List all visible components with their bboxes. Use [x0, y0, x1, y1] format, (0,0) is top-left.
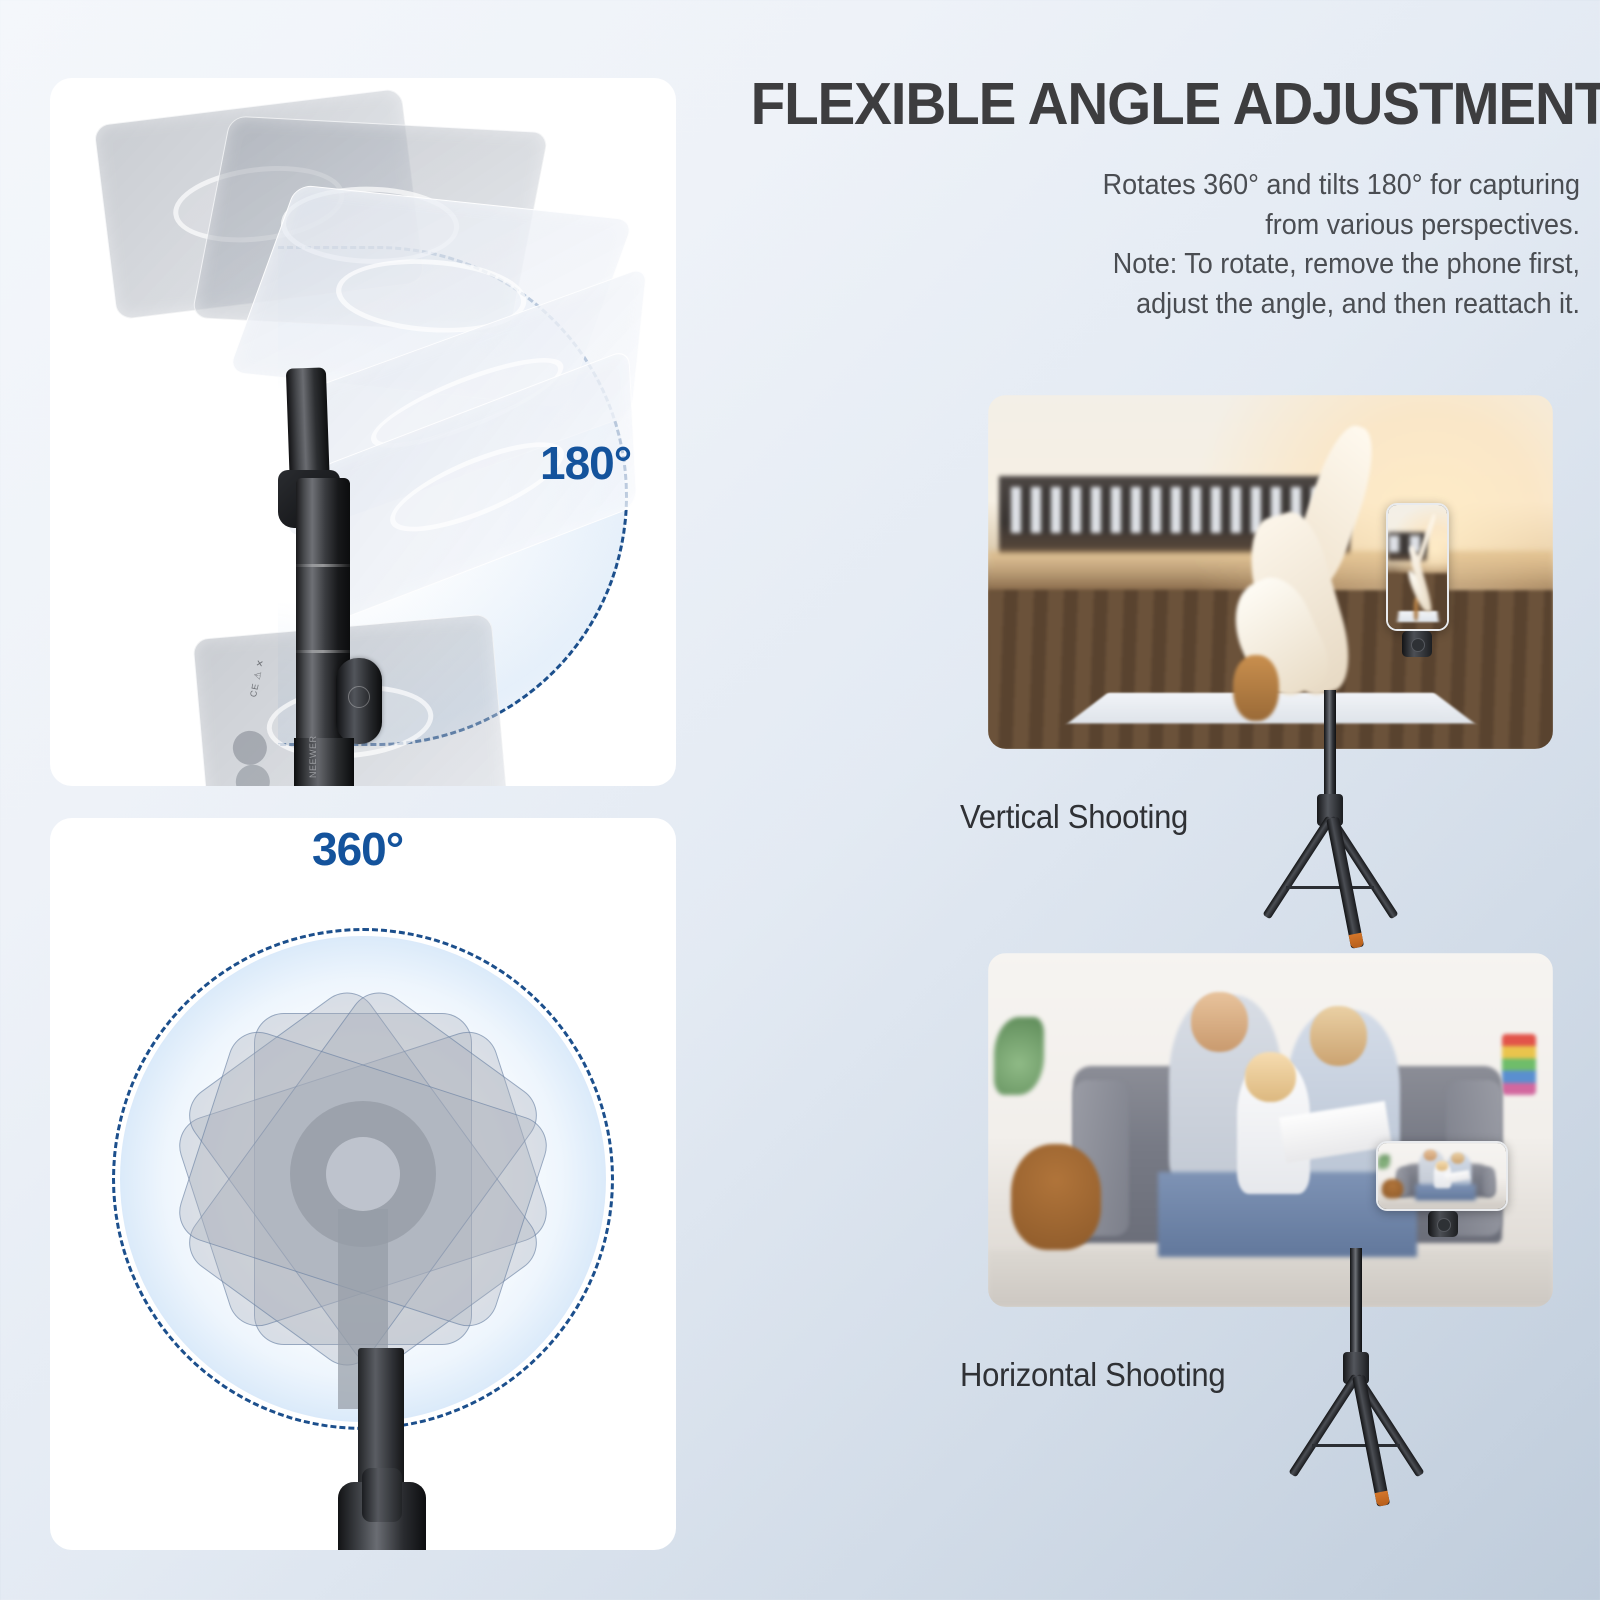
tripod-brace [1312, 1444, 1400, 1447]
mounted-phone-portrait [1386, 503, 1449, 631]
caption-vertical-shooting: Vertical Shooting [960, 798, 1188, 836]
tripod-leg-left [1262, 816, 1334, 920]
tilt-illustration: CE ⚠ ✕ NEEWER 180° [50, 78, 676, 786]
phone-preview-screen [1388, 505, 1447, 629]
rotate-illustration [50, 864, 676, 1550]
page-subcopy: Rotates 360° and tilts 180° for capturin… [929, 166, 1580, 325]
tripod-center-pole [1324, 690, 1336, 800]
brand-marking: NEEWER [308, 735, 318, 778]
child-head [1245, 1052, 1296, 1102]
caption-horizontal-shooting: Horizontal Shooting [960, 1356, 1225, 1394]
tilt-panel: CE ⚠ ✕ NEEWER 180° [50, 78, 676, 786]
pole-lower-section [294, 738, 354, 786]
magsafe-ring-icon [389, 424, 566, 550]
teddy-bear [1011, 1144, 1101, 1250]
rotation-hub [290, 1101, 436, 1247]
subcopy-line-4: adjust the angle, and then reattach it. [929, 285, 1580, 325]
horizontal-shooting-photo [988, 953, 1553, 1307]
subcopy-line-3: Note: To rotate, remove the phone first, [929, 245, 1580, 285]
vertical-shooting-photo [988, 395, 1553, 749]
subcopy-line-1: Rotates 360° and tilts 180° for capturin… [929, 166, 1580, 206]
stacking-toy [1502, 1034, 1536, 1094]
tilt-degree-label: 180° [540, 436, 631, 490]
tilt-knob [336, 658, 382, 744]
camera-lens-icon [231, 729, 268, 766]
rotate-panel: 360° [50, 818, 676, 1550]
hair [1233, 655, 1279, 720]
tripod-center-pole [1350, 1248, 1362, 1358]
mother-head [1310, 1006, 1367, 1066]
phone-mount-head [1402, 631, 1432, 657]
tripod-leg-left [1288, 1374, 1360, 1478]
floor [988, 1250, 1553, 1307]
phone-mount-head [1428, 1211, 1458, 1237]
rotating-mount-head [338, 1482, 426, 1550]
mounted-phone-landscape [1376, 1141, 1508, 1211]
subcopy-line-2: from various perspectives. [929, 206, 1580, 246]
phone-preview-screen [1378, 1143, 1506, 1209]
tripod-brace [1286, 886, 1374, 889]
rooftop-yoga-scene [988, 395, 1553, 749]
family-living-room-scene [988, 953, 1553, 1307]
houseplant [994, 1017, 1045, 1095]
page-title: FLEXIBLE ANGLE ADJUSTMENT [751, 74, 1582, 134]
father-head [1191, 992, 1248, 1052]
